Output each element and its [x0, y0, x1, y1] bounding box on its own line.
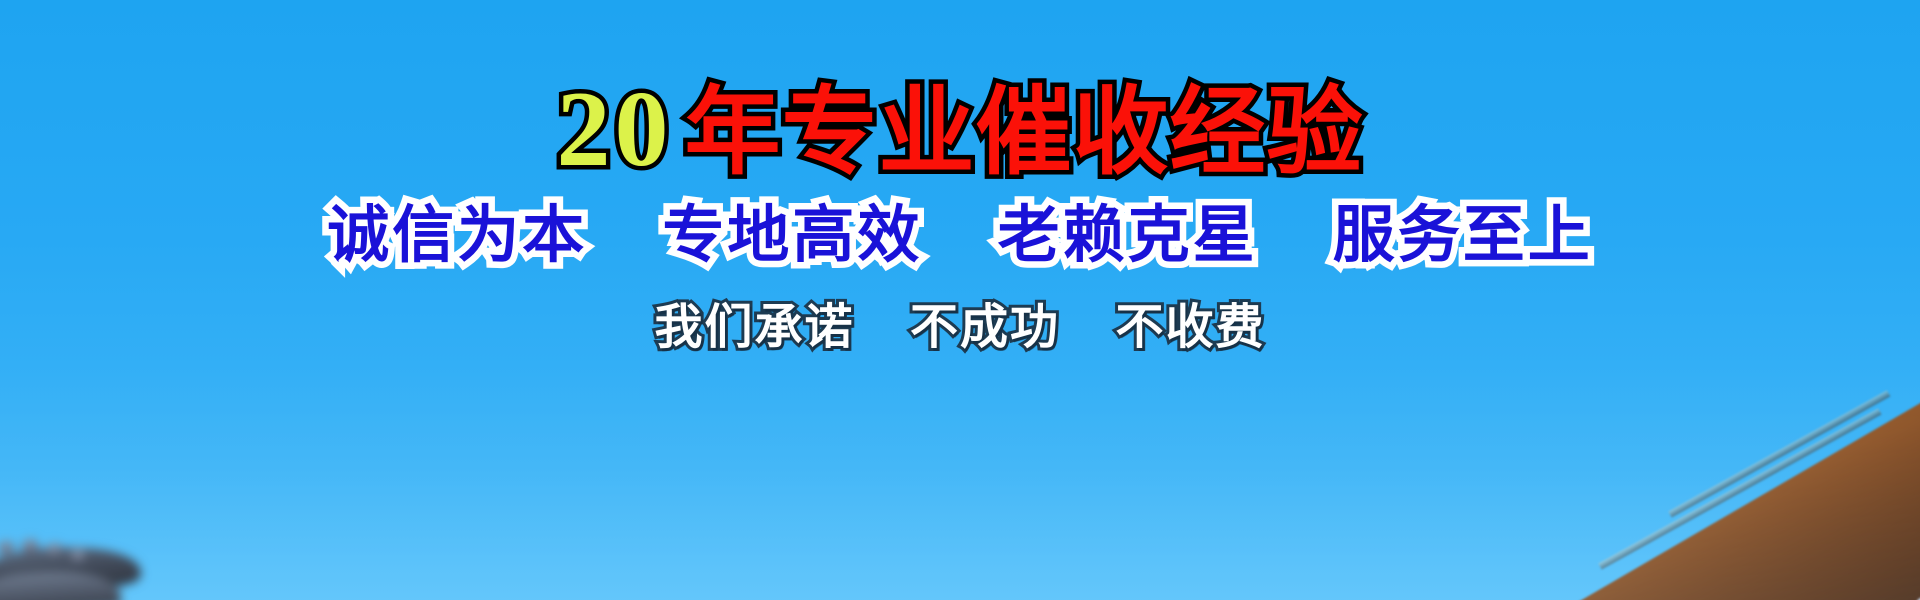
slogan-phrase-2: 专地高效 [662, 198, 922, 271]
slogan-phrase-3: 老赖克星 [998, 198, 1258, 271]
slogan-line: 诚信为本 专地高效 老赖克星 服务至上 [327, 202, 1593, 267]
promise-phrase-2: 不成功 [910, 299, 1060, 355]
promise-phrase-3: 不收费 [1115, 299, 1265, 355]
promise-line: 我们承诺 不成功 不收费 [655, 301, 1266, 354]
slogan-phrase-1: 诚信为本 [327, 198, 587, 271]
promise-phrase-1: 我们承诺 [655, 299, 855, 355]
headline: 20 年专业催收经验 [557, 76, 1364, 184]
headline-years-number: 20 [557, 76, 685, 184]
promo-banner: 20 年专业催收经验 诚信为本 专地高效 老赖克星 服务至上 我们承诺 不成功 … [0, 0, 1920, 600]
banner-copy: 20 年专业催收经验 诚信为本 专地高效 老赖克星 服务至上 我们承诺 不成功 … [0, 0, 1920, 600]
headline-text: 年专业催收经验 [685, 84, 1364, 180]
slogan-phrase-4: 服务至上 [1333, 198, 1593, 271]
